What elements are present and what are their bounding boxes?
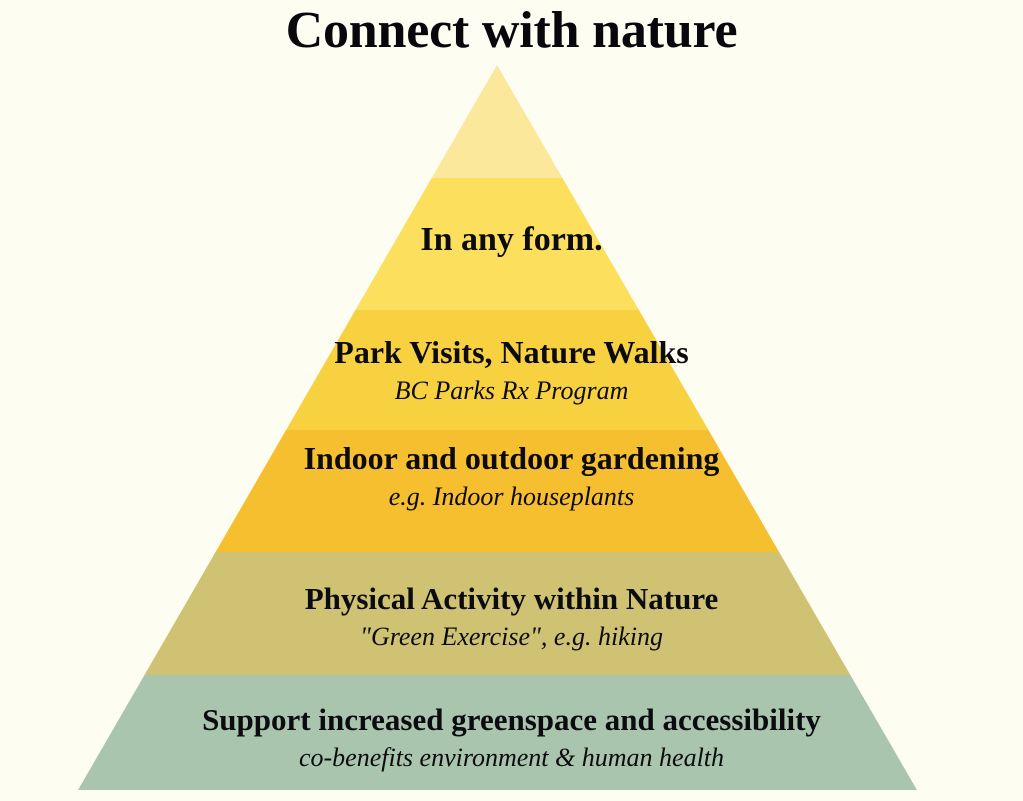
pyramid-tier-greenspace <box>78 675 917 790</box>
pyramid-tier-physical-activity <box>144 552 850 675</box>
pyramid-tier-gardening <box>216 430 780 552</box>
pyramid-tier-in-any-form <box>355 178 639 310</box>
pyramid-tier-park-visits <box>286 310 708 430</box>
pyramid-svg <box>0 0 1023 801</box>
slide-canvas: Connect with nature In any form. Park Vi… <box>0 0 1023 801</box>
pyramid-diagram <box>0 0 1023 801</box>
pyramid-tier-apex <box>432 65 563 178</box>
